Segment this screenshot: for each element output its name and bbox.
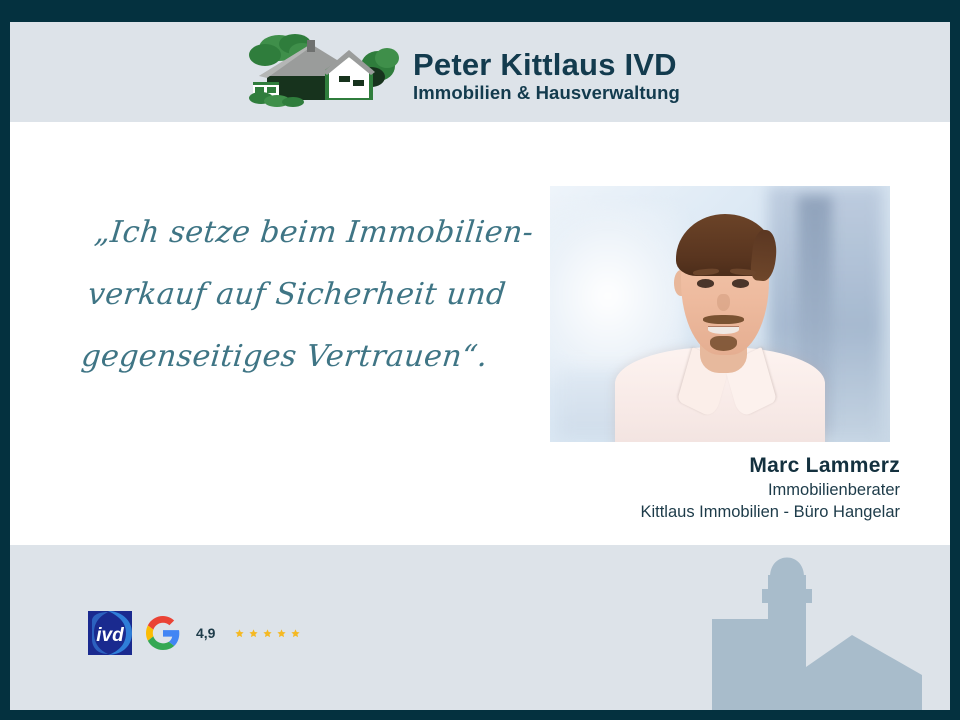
company-logo[interactable]: Peter Kittlaus IVD Immobilien & Hausverw… bbox=[245, 30, 680, 108]
rating-stars bbox=[235, 629, 300, 638]
footer-badges: ivd 4,9 bbox=[88, 611, 300, 655]
person-role: Immobilienberater bbox=[380, 479, 900, 501]
footer-band: ivd 4,9 bbox=[10, 545, 950, 710]
person-caption: Marc Lammerz Immobilienberater Kittlaus … bbox=[380, 452, 900, 523]
google-rating-value: 4,9 bbox=[196, 625, 215, 641]
star-icon bbox=[249, 629, 258, 638]
svg-text:ivd: ivd bbox=[96, 625, 124, 646]
header-band: Peter Kittlaus IVD Immobilien & Hausverw… bbox=[10, 22, 950, 122]
presentation-slide: Peter Kittlaus IVD Immobilien & Hausverw… bbox=[0, 0, 960, 720]
slide-canvas: Peter Kittlaus IVD Immobilien & Hausverw… bbox=[10, 22, 950, 710]
logo-wordmark: Peter Kittlaus IVD Immobilien & Hausverw… bbox=[413, 48, 680, 108]
star-icon bbox=[263, 629, 272, 638]
person-figure bbox=[550, 186, 890, 442]
star-icon bbox=[235, 629, 244, 638]
beard bbox=[710, 336, 737, 351]
star-icon bbox=[277, 629, 286, 638]
quote-line-1: „Ich setze beim Immobilien- bbox=[91, 202, 518, 264]
company-name: Peter Kittlaus IVD bbox=[413, 48, 680, 82]
person-office: Kittlaus Immobilien - Büro Hangelar bbox=[380, 501, 900, 523]
testimonial-quote: „Ich setze beim Immobilien- verkauf auf … bbox=[78, 202, 518, 388]
ivd-logo-icon[interactable]: ivd bbox=[88, 611, 132, 655]
eye-right bbox=[732, 279, 749, 287]
portrait-photo bbox=[550, 186, 890, 442]
moustache bbox=[703, 315, 744, 324]
star-icon bbox=[291, 629, 300, 638]
company-tagline: Immobilien & Hausverwaltung bbox=[413, 82, 680, 104]
main-content: „Ich setze beim Immobilien- verkauf auf … bbox=[10, 122, 950, 545]
church-silhouette-icon bbox=[712, 545, 922, 710]
quote-line-2: verkauf auf Sicherheit und bbox=[85, 264, 512, 326]
quote-line-3: gegenseitiges Vertrauen“. bbox=[78, 326, 505, 388]
house-with-trees-icon bbox=[245, 30, 405, 108]
eye-left bbox=[697, 279, 714, 287]
google-logo-icon[interactable] bbox=[146, 616, 180, 650]
person-name: Marc Lammerz bbox=[380, 452, 900, 479]
